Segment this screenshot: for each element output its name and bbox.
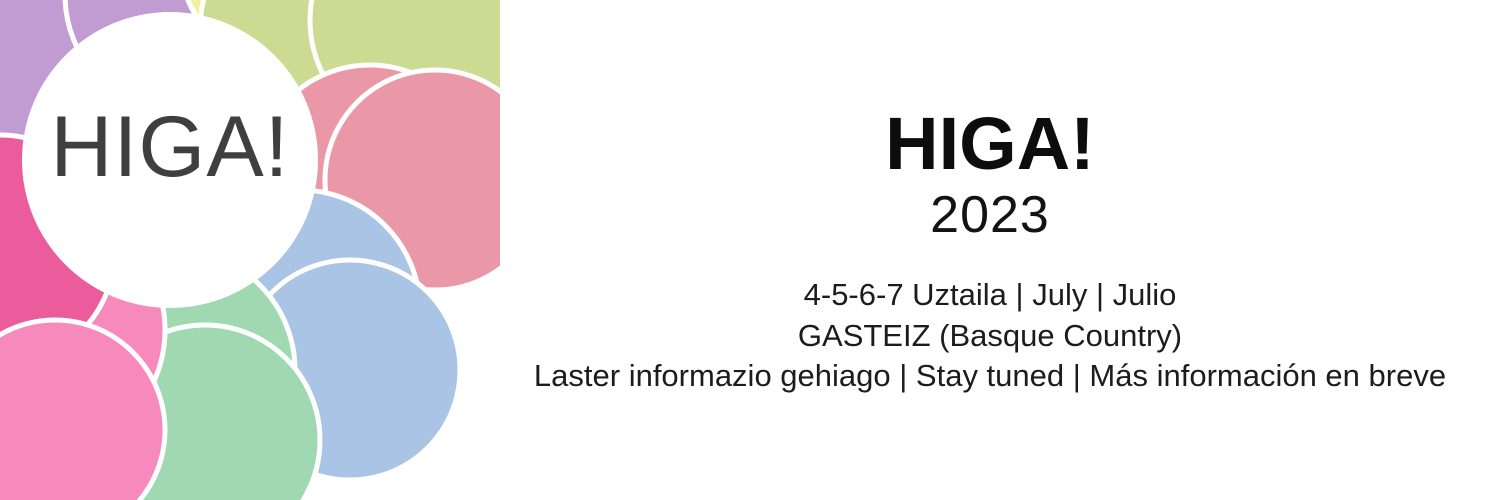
event-dates-line: 4-5-6-7 Uztaila | July | Julio xyxy=(534,275,1446,316)
event-title: HIGA! xyxy=(885,103,1095,181)
higa-flower-logo[interactable]: HIGA! xyxy=(0,0,500,500)
event-info-block: HIGA! 2023 4-5-6-7 Uztaila | July | Juli… xyxy=(480,0,1500,500)
event-stay-tuned-line: Laster informazio gehiago | Stay tuned |… xyxy=(534,356,1446,397)
higa-2023-banner: HIGA! HIGA! 2023 4-5-6-7 Uztaila | July … xyxy=(0,0,1500,500)
logo-wordmark: HIGA! xyxy=(0,104,340,190)
event-detail-lines: 4-5-6-7 Uztaila | July | Julio GASTEIZ (… xyxy=(534,275,1446,398)
flower-petals-svg xyxy=(0,0,500,500)
event-location-line: GASTEIZ (Basque Country) xyxy=(534,316,1446,357)
event-year: 2023 xyxy=(930,189,1050,241)
